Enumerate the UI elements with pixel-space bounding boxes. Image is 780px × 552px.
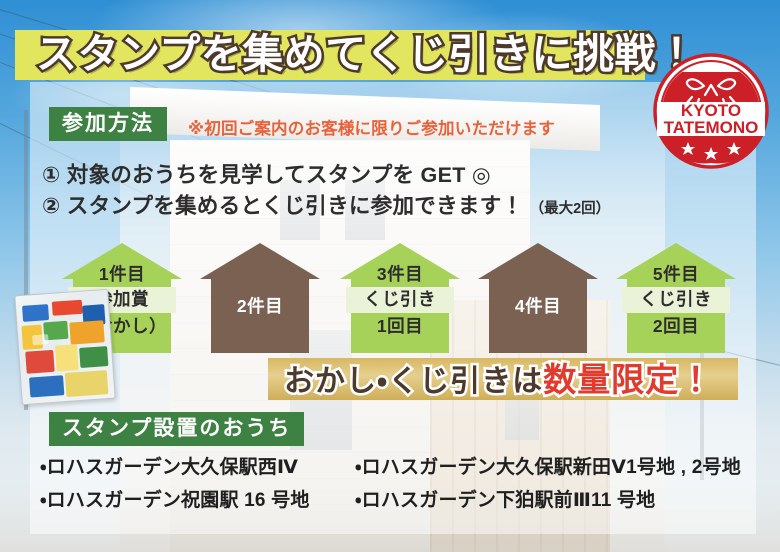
house-3-labels: 3件目 くじ引き 1回目 [340,263,460,337]
snack-item [25,350,54,374]
stamp-house-3: 3件目 くじ引き 1回目 [340,243,460,353]
location-item: ・ロハスガーデン大久保駅西Ⅳ [40,452,355,479]
stamp-house-2: 2件目 [200,243,320,353]
house-5-number: 5件目 [653,264,699,284]
snack-item [65,370,109,397]
how-to-note: ※初回ご案内のお客様に限りご参加いただけます [188,115,555,139]
how-to-steps: ① 対象のおうちを見学してスタンプを GET ◎ ② スタンプを集めるとくじ引き… [42,160,682,221]
step-1-text: ① 対象のおうちを見学してスタンプを GET ◎ [42,163,491,187]
house-3-sub: 1回目 [377,316,423,336]
step-2: ② スタンプを集めるとくじ引きに参加できます！ （最大2回） [42,191,682,222]
house-3-chip: くじ引き [346,287,454,312]
step-2-suffix: （最大2回） [530,201,611,217]
locations-section-header: スタンプ設置のおうち [49,412,304,446]
snack-item [79,346,108,368]
house-2-labels: 2件目 [200,263,320,317]
house-5-chip: くじ引き [622,287,730,312]
kyoto-tatemono-seal: KYOTO TATEMONO [652,52,770,170]
snack-item [32,334,49,345]
how-to-section-header: 参加方法 [49,107,167,141]
snack-item [52,300,83,316]
locations-label: スタンプ設置のおうち [49,412,304,446]
house-3-number: 3件目 [377,264,423,284]
step-1: ① 対象のおうちを見学してスタンプを GET ◎ [42,160,682,191]
snack-item [69,320,104,344]
snack-item [22,304,49,322]
limited-dark-text: おかし・くじ引きは [284,365,543,398]
snack-item [55,344,79,371]
locations-list: ・ロハスガーデン大久保駅西Ⅳ ・ロハスガーデン大久保駅新田Ⅴ1号地 , 2号地 … [40,452,750,512]
how-to-label: 参加方法 [49,107,167,141]
house-5-labels: 5件目 くじ引き 2回目 [616,263,736,337]
snack-item [29,375,64,397]
house-2-number: 2件目 [237,296,283,316]
stamp-house-row: 1件目 参加賞 （おかし） 2件目 3件目 くじ引き 1回目 [0,243,780,353]
location-item: ・ロハスガーデン祝園駅 16 号地 [40,485,355,512]
limited-red-text: 数量限定！ [543,361,713,398]
seal-line-2: TATEMONO [664,118,759,137]
page-title: スタンプを集めてくじ引きに挑戦！ [36,20,676,80]
house-4-number: 4件目 [515,296,561,316]
snack-bag-photo [14,289,115,405]
house-5-sub: 2回目 [653,316,699,336]
promo-poster: スタンプを集めてくじ引きに挑戦！ KYOTO TATEMONO [0,0,780,552]
limited-quantity-text: おかし・くじ引きは数量限定！ [284,360,713,402]
location-item: ・ロハスガーデン下狛駅前Ⅲ11 号地 [355,485,750,512]
location-item: ・ロハスガーデン大久保駅新田Ⅴ1号地 , 2号地 [355,452,750,479]
step-2-text: ② スタンプを集めるとくじ引きに参加できます！ [42,194,523,218]
stamp-house-5: 5件目 くじ引き 2回目 [616,243,736,353]
house-1-number: 1件目 [99,264,145,284]
house-4-labels: 4件目 [478,263,598,317]
stamp-house-4: 4件目 [478,243,598,353]
